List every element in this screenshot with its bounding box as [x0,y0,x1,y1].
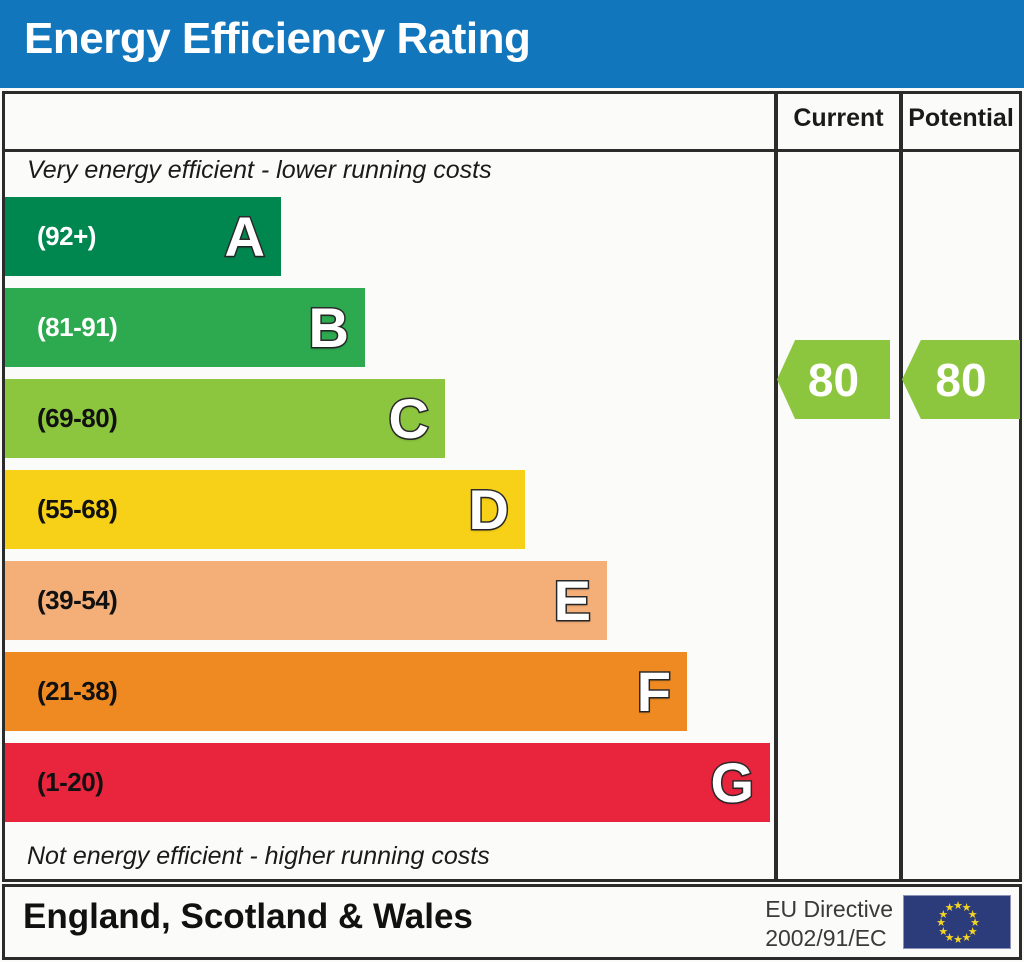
band-range-c: (69-80) [37,403,117,434]
footer-directive-line1: EU Directive [765,895,893,924]
rating-band-b: (81-91)B [5,288,365,367]
page-title: Energy Efficiency Rating [24,14,530,64]
column-divider-current [774,94,778,879]
band-letter-a: A [225,209,265,265]
band-range-e: (39-54) [37,585,117,616]
band-letter-e: E [554,573,591,629]
rating-band-list: (92+)A(81-91)B(69-80)C(55-68)D(39-54)E(2… [5,197,774,837]
band-letter-f: F [637,664,671,720]
caption-bottom: Not energy efficient - higher running co… [27,842,490,871]
band-range-f: (21-38) [37,676,117,707]
rating-table: Current Potential Very energy efficient … [2,91,1022,882]
eu-flag-icon [903,895,1011,949]
band-letter-g: G [710,755,754,811]
energy-efficiency-rating-certificate: Energy Efficiency Rating Current Potenti… [0,0,1024,962]
column-divider-potential [899,94,903,879]
rating-band-f: (21-38)F [5,652,687,731]
header-row-divider [5,149,1019,152]
band-letter-d: D [469,482,509,538]
band-letter-c: C [389,391,429,447]
rating-band-e: (39-54)E [5,561,607,640]
footer-region-label: England, Scotland & Wales [23,897,473,937]
band-range-g: (1-20) [37,767,103,798]
band-range-a: (92+) [37,221,96,252]
rating-band-a: (92+)A [5,197,281,276]
band-letter-b: B [309,300,349,356]
band-range-b: (81-91) [37,312,117,343]
footer-bar: England, Scotland & Wales EU Directive 2… [2,884,1022,960]
current-rating-value: 80 [808,353,859,407]
footer-directive-line2: 2002/91/EC [765,924,893,953]
band-range-d: (55-68) [37,494,117,525]
potential-rating-value: 80 [935,353,986,407]
column-header-current: Current [778,104,899,133]
rating-band-g: (1-20)G [5,743,770,822]
caption-top: Very energy efficient - lower running co… [27,156,492,185]
current-rating-arrow: 80 [777,340,890,419]
footer-directive: EU Directive 2002/91/EC [765,895,893,953]
rating-band-d: (55-68)D [5,470,525,549]
column-header-potential: Potential [903,104,1019,133]
title-bar: Energy Efficiency Rating [0,0,1024,88]
potential-rating-arrow: 80 [902,340,1020,419]
rating-band-c: (69-80)C [5,379,445,458]
